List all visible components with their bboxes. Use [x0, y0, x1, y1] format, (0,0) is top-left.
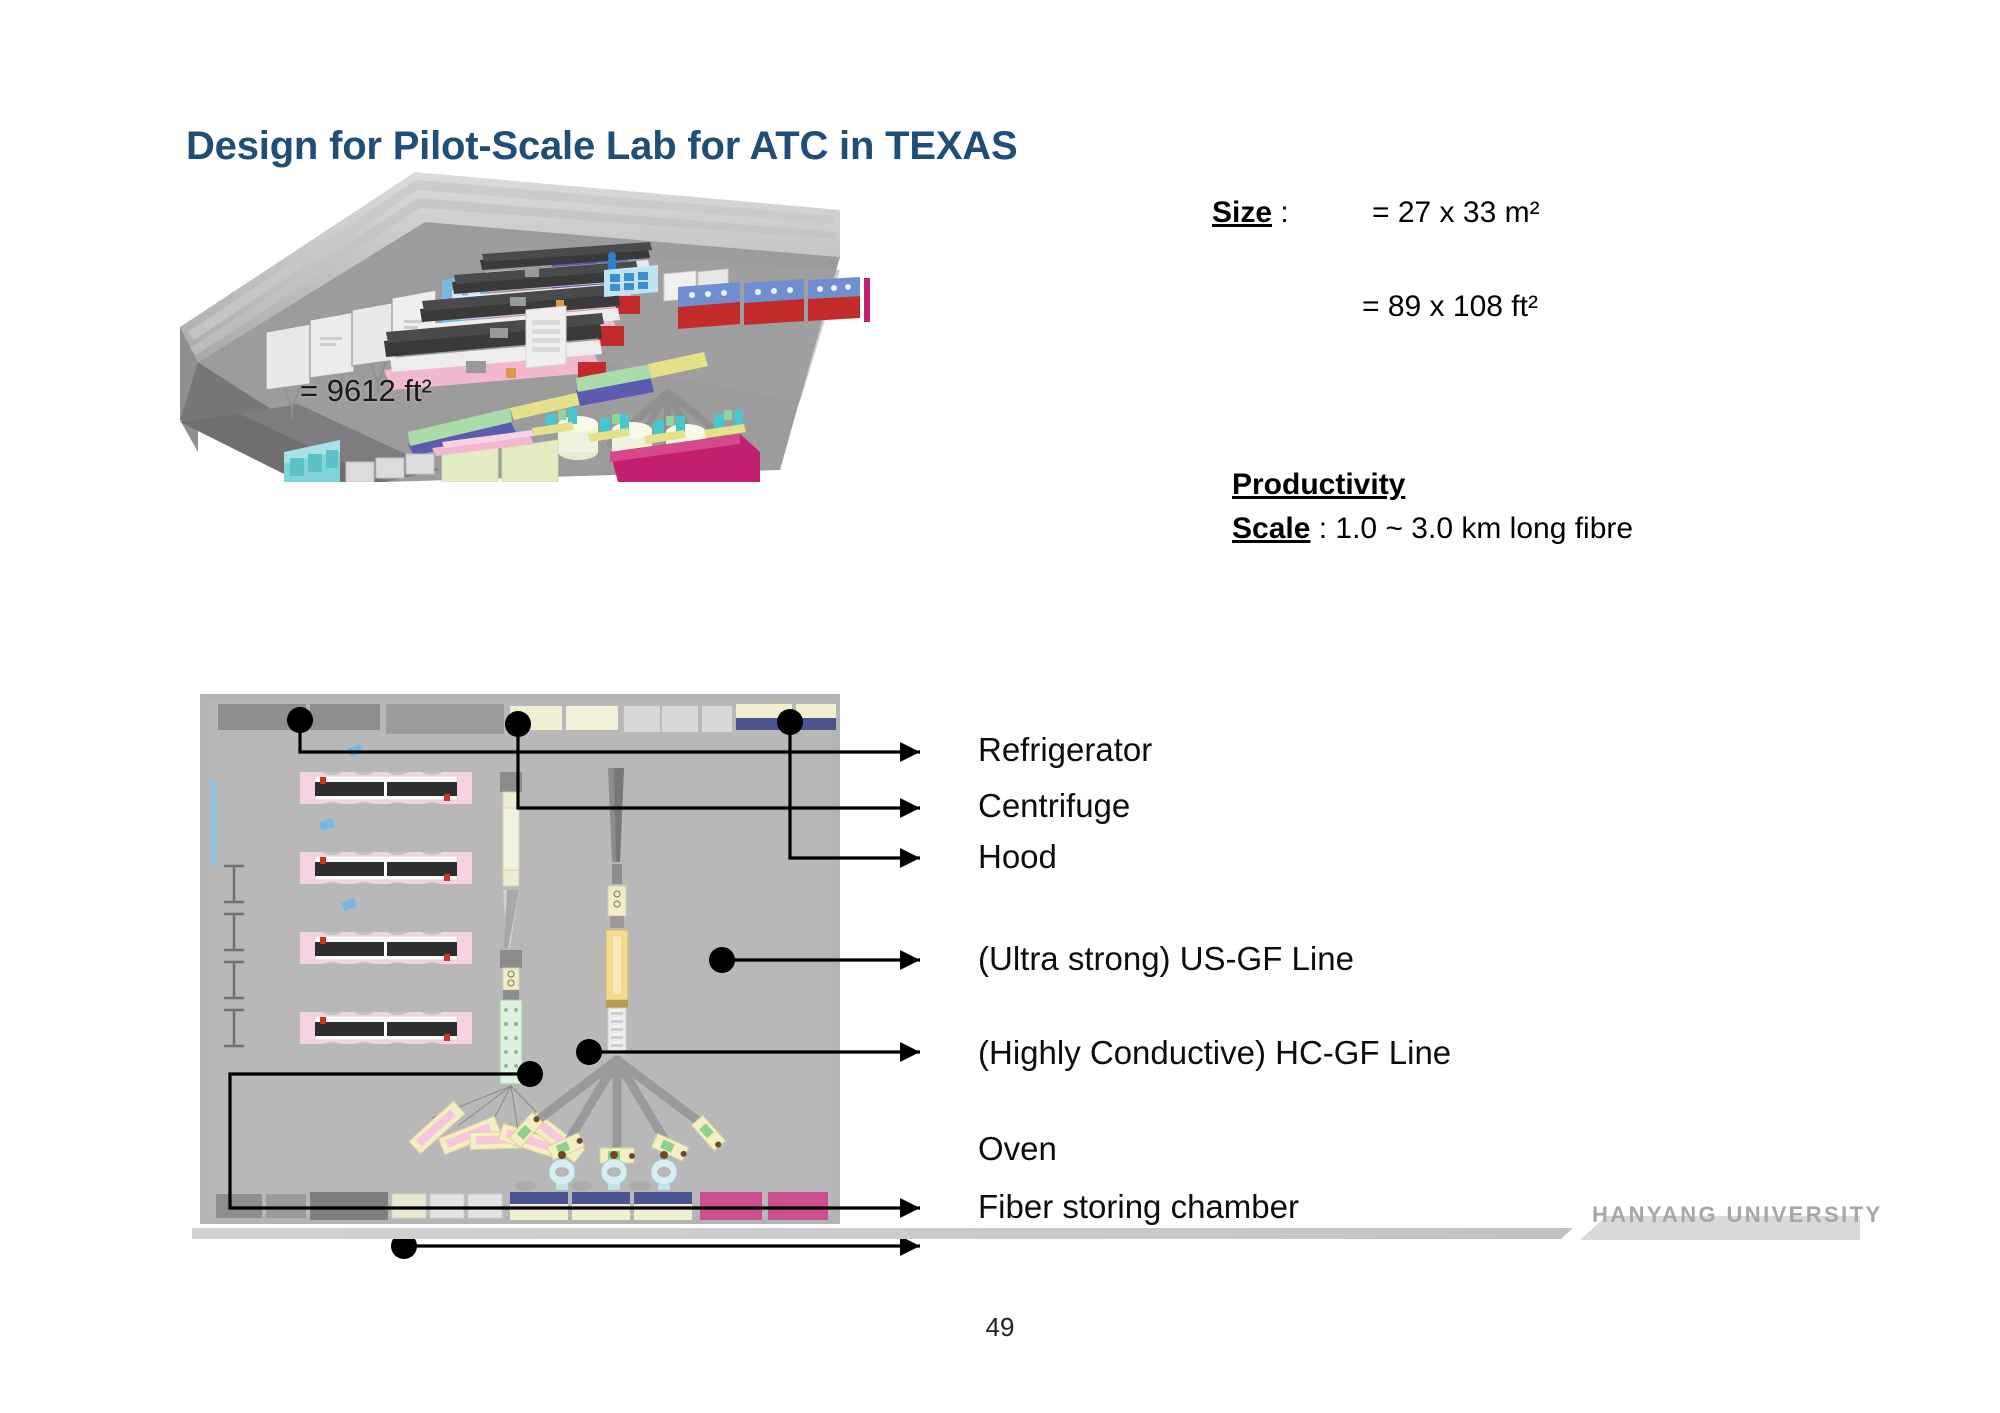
callout-label-centrifuge: Centrifuge — [978, 787, 1130, 825]
callout-label-oven: Oven — [978, 1130, 1057, 1168]
size-colon: : — [1272, 196, 1289, 229]
lab-3d-render — [180, 152, 870, 482]
scale-label: Scale — [1232, 512, 1310, 545]
size-value-metric: = 27 x 33 m² — [1372, 196, 1540, 230]
callout-label-fiber-chamber: Fiber storing chamber — [978, 1188, 1299, 1226]
size-label: Size : — [1212, 196, 1289, 230]
callout-label-us-gf-line: (Ultra strong) US-GF Line — [978, 940, 1354, 978]
scale-line: Scale : 1.0 ~ 3.0 km long fibre — [1232, 512, 1633, 546]
top-counter-row — [218, 704, 836, 734]
hanyang-university-logo: HANYANG UNIVERSITY — [1592, 1202, 1883, 1228]
scale-value: : 1.0 ~ 3.0 km long fibre — [1310, 512, 1633, 545]
callout-label-refrigerator: Refrigerator — [978, 731, 1152, 769]
callout-label-hood: Hood — [978, 838, 1057, 876]
floor-plan-svg — [200, 694, 840, 1224]
area-annotation: = 9612 ft² — [300, 373, 432, 409]
page-number: 49 — [0, 1312, 2000, 1343]
lab-3d-svg — [180, 152, 870, 482]
callout-label-hc-gf-line: (Highly Conductive) HC-GF Line — [978, 1034, 1451, 1072]
footer-bar — [192, 1228, 1792, 1239]
slide-root: Design for Pilot-Scale Lab for ATC in TE… — [0, 0, 2000, 1413]
productivity-label: Productivity — [1232, 468, 1405, 502]
size-value-imperial: = 89 x 108 ft² — [1362, 290, 1538, 324]
size-label-text: Size — [1212, 196, 1272, 229]
lab-floor-plan — [200, 694, 840, 1224]
